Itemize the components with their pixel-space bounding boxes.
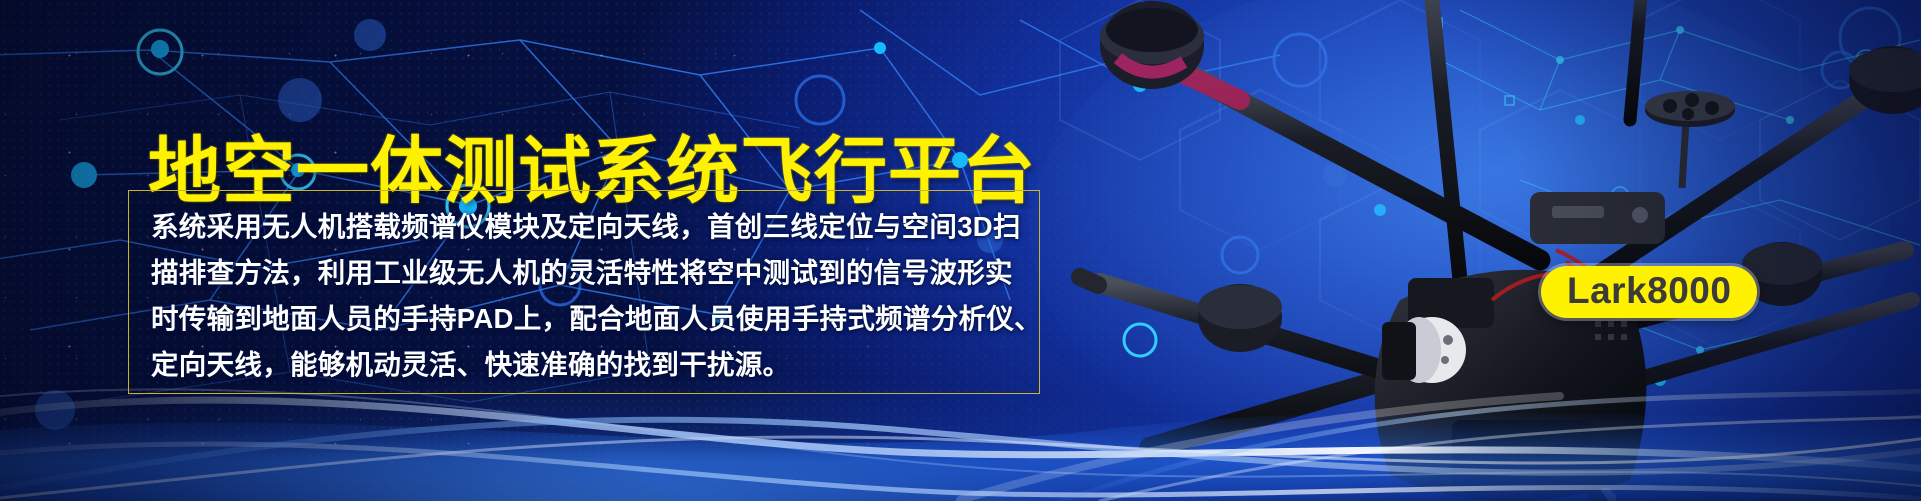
banner-content: 地空一体测试系统飞行平台 系统采用无人机搭载频谱仪模块及定向天线，首创三线定位与… (0, 0, 1100, 501)
product-name-badge: Lark8000 (1541, 266, 1757, 318)
description-line: 系统采用无人机搭载频谱仪模块及定向天线，首创三线定位与空间3D扫 (151, 204, 1017, 250)
description-line: 描排查方法，利用工业级无人机的灵活特性将空中测试到的信号波形实 (151, 250, 1017, 296)
description-text: 系统采用无人机搭载频谱仪模块及定向天线，首创三线定位与空间3D扫 描排查方法，利… (151, 204, 1017, 388)
promo-banner: 地空一体测试系统飞行平台 系统采用无人机搭载频谱仪模块及定向天线，首创三线定位与… (0, 0, 1921, 501)
description-box: 系统采用无人机搭载频谱仪模块及定向天线，首创三线定位与空间3D扫 描排查方法，利… (128, 190, 1040, 394)
description-line: 定向天线，能够机动灵活、快速准确的找到干扰源。 (151, 342, 1017, 388)
description-line: 时传输到地面人员的手持PAD上，配合地面人员使用手持式频谱分析仪、 (151, 296, 1017, 342)
